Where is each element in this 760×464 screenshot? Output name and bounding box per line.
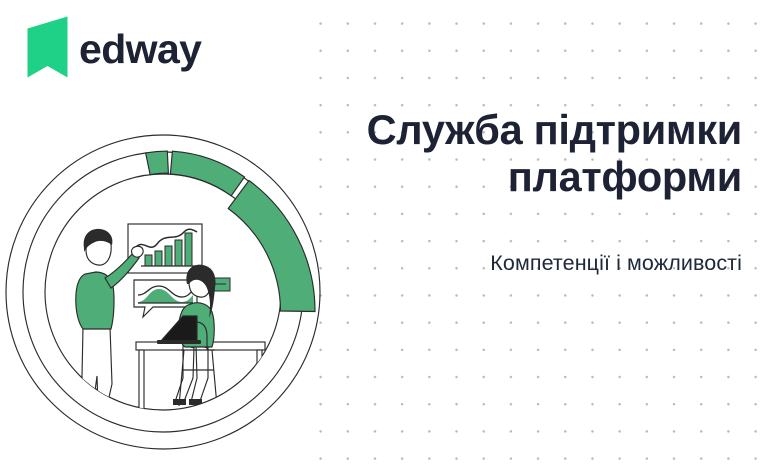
brand-logo[interactable]: edway <box>27 16 201 78</box>
dot-grid-background <box>303 0 760 464</box>
page-subtitle: Компетенції і можливості <box>234 251 742 276</box>
slide-canvas: edway Служба підтримки платформи Компете… <box>0 0 760 464</box>
page-title: Служба підтримки платформи <box>234 106 742 201</box>
small-arc-segment <box>146 151 169 175</box>
edway-bookmark-icon <box>27 16 68 78</box>
headline-line-2: платформи <box>234 153 742 200</box>
headline-line-1: Служба підтримки <box>234 106 742 153</box>
brand-wordmark: edway <box>79 29 201 70</box>
